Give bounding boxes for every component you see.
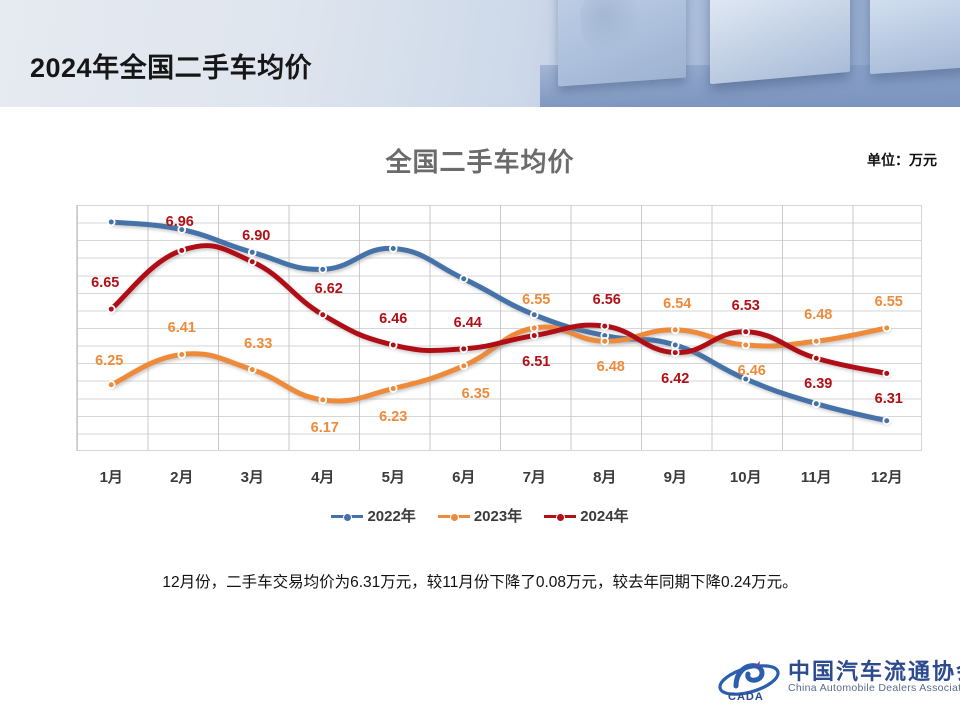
data-point-marker bbox=[319, 397, 326, 404]
x-axis-tick-8: 8月 bbox=[593, 466, 616, 487]
legend-item-2023年[interactable]: 2023年 bbox=[438, 505, 522, 526]
x-axis-tick-4: 4月 bbox=[311, 466, 334, 487]
data-point-marker bbox=[249, 258, 256, 265]
data-label: 6.54 bbox=[663, 296, 691, 312]
data-point-marker bbox=[319, 311, 326, 318]
slide: 2024年全国二手车均价 全国二手车均价 单位：万元 6.256.416.336… bbox=[0, 0, 960, 720]
legend-label: 2024年 bbox=[580, 505, 628, 526]
data-label: 6.62 bbox=[315, 281, 343, 297]
svg-text:CADA: CADA bbox=[728, 691, 764, 702]
data-point-marker bbox=[531, 332, 538, 339]
data-label: 6.55 bbox=[522, 292, 550, 308]
decorative-cube-3 bbox=[870, 0, 960, 74]
data-point-marker bbox=[742, 342, 749, 349]
data-point-marker bbox=[883, 325, 890, 332]
x-axis-tick-12: 12月 bbox=[871, 466, 903, 487]
data-point-marker bbox=[672, 326, 679, 333]
legend-marker-icon bbox=[331, 510, 363, 522]
data-point-marker bbox=[460, 345, 467, 352]
data-label: 6.25 bbox=[95, 353, 123, 369]
data-point-marker bbox=[460, 362, 467, 369]
data-label: 6.65 bbox=[91, 275, 119, 291]
data-point-marker bbox=[178, 351, 185, 358]
chart-plot-area: 6.256.416.336.176.236.356.556.486.546.46… bbox=[76, 205, 922, 451]
data-point-marker bbox=[390, 385, 397, 392]
data-label: 6.42 bbox=[661, 371, 689, 387]
organization-logo: CADA 中国汽车流通协会 China Automobile Dealers A… bbox=[716, 652, 946, 706]
summary-note: 12月份，二手车交易均价为6.31万元，较11月份下降了0.08万元，较去年同期… bbox=[0, 570, 960, 592]
data-label: 6.23 bbox=[379, 409, 407, 425]
legend-marker-icon bbox=[438, 510, 470, 522]
logo-text-en: China Automobile Dealers Association bbox=[788, 682, 960, 694]
legend-item-2022年[interactable]: 2022年 bbox=[331, 505, 415, 526]
data-label: 6.96 bbox=[166, 214, 194, 230]
chart-x-axis: 1月2月3月4月5月6月7月8月9月10月11月12月 bbox=[76, 466, 922, 490]
decorative-cube-2 bbox=[710, 0, 850, 84]
chart-unit-label: 单位：万元 bbox=[867, 150, 937, 170]
data-point-marker bbox=[108, 306, 115, 313]
data-point-marker bbox=[601, 323, 608, 330]
x-axis-tick-2: 2月 bbox=[170, 466, 193, 487]
x-axis-tick-7: 7月 bbox=[523, 466, 546, 487]
data-point-marker bbox=[531, 311, 538, 318]
data-point-marker bbox=[460, 275, 467, 282]
data-point-marker bbox=[883, 417, 890, 424]
data-point-marker bbox=[531, 325, 538, 332]
data-point-marker bbox=[601, 338, 608, 345]
data-point-marker bbox=[742, 328, 749, 335]
data-label: 6.48 bbox=[804, 307, 832, 323]
data-point-marker bbox=[813, 355, 820, 362]
data-label: 6.53 bbox=[732, 298, 760, 314]
data-point-marker bbox=[390, 245, 397, 252]
data-label: 6.35 bbox=[462, 386, 490, 402]
data-point-marker bbox=[249, 249, 256, 256]
data-label: 6.17 bbox=[311, 420, 339, 436]
chart-title: 全国二手车均价 bbox=[0, 142, 960, 179]
data-label: 6.90 bbox=[242, 228, 270, 244]
data-label: 6.46 bbox=[738, 363, 766, 379]
chart-legend: 2022年2023年2024年 bbox=[0, 505, 960, 526]
data-label: 6.41 bbox=[168, 320, 196, 336]
data-point-marker bbox=[108, 219, 115, 226]
data-label: 6.51 bbox=[522, 354, 550, 370]
data-point-marker bbox=[813, 400, 820, 407]
x-axis-tick-9: 9月 bbox=[664, 466, 687, 487]
page-title: 2024年全国二手车均价 bbox=[30, 46, 312, 85]
data-label: 6.33 bbox=[244, 336, 272, 352]
legend-label: 2022年 bbox=[367, 505, 415, 526]
x-axis-tick-5: 5月 bbox=[382, 466, 405, 487]
data-point-marker bbox=[249, 366, 256, 373]
data-label: 6.55 bbox=[875, 294, 903, 310]
data-point-marker bbox=[672, 342, 679, 349]
x-axis-tick-10: 10月 bbox=[730, 466, 762, 487]
decorative-cube-1 bbox=[558, 0, 686, 86]
x-axis-tick-1: 1月 bbox=[100, 466, 123, 487]
data-label: 6.56 bbox=[593, 292, 621, 308]
data-label: 6.39 bbox=[804, 376, 832, 392]
slide-header: 2024年全国二手车均价 bbox=[0, 0, 960, 107]
data-label: 6.31 bbox=[875, 391, 903, 407]
data-label: 6.48 bbox=[597, 359, 625, 375]
chart-lines-svg bbox=[76, 205, 922, 451]
legend-label: 2023年 bbox=[474, 505, 522, 526]
data-label: 6.46 bbox=[379, 311, 407, 327]
data-point-marker bbox=[390, 342, 397, 349]
data-point-marker bbox=[883, 370, 890, 377]
x-axis-tick-3: 3月 bbox=[241, 466, 264, 487]
cada-logo-icon: CADA bbox=[716, 656, 782, 702]
data-point-marker bbox=[672, 349, 679, 356]
legend-item-2024年[interactable]: 2024年 bbox=[544, 505, 628, 526]
line-2024年 bbox=[111, 246, 887, 374]
x-axis-tick-6: 6月 bbox=[452, 466, 475, 487]
data-point-marker bbox=[108, 381, 115, 388]
data-point-marker bbox=[319, 266, 326, 273]
header-decorative-cubes-image bbox=[540, 0, 960, 107]
legend-marker-icon bbox=[544, 510, 576, 522]
x-axis-tick-11: 11月 bbox=[801, 466, 832, 487]
data-point-marker bbox=[813, 338, 820, 345]
data-label: 6.44 bbox=[454, 315, 482, 331]
data-point-marker bbox=[178, 247, 185, 254]
